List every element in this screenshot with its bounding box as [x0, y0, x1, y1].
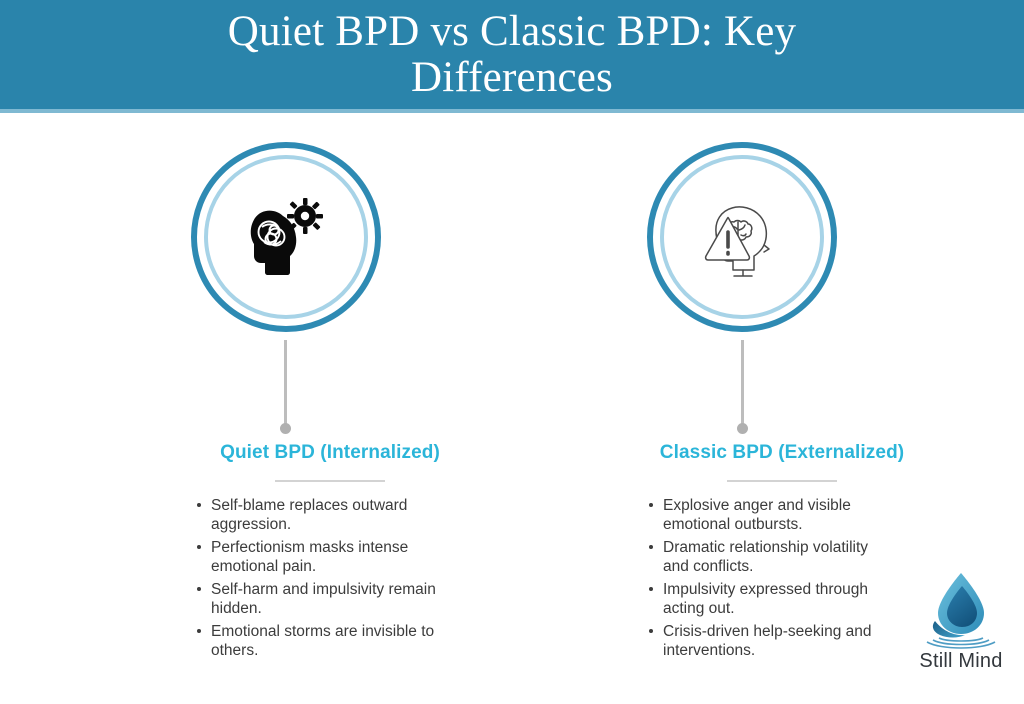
heading-divider: [275, 480, 385, 482]
connector-dot: [737, 423, 748, 434]
page-title: Quiet BPD vs Classic BPD: Key Difference…: [152, 9, 872, 101]
list-item: Explosive anger and visible emotional ou…: [649, 496, 878, 534]
list-item: Self-blame replaces outward aggression.: [197, 496, 441, 534]
text-block-quiet-bpd: Quiet BPD (Internalized) Self-blame repl…: [155, 442, 505, 664]
list-item: Perfectionism masks intense emotional pa…: [197, 538, 441, 576]
list-item: Dramatic relationship volatility and con…: [649, 538, 878, 576]
connector-line: [284, 340, 287, 428]
list-item: Emotional storms are invisible to others…: [197, 622, 441, 660]
column-quiet-bpd: Quiet BPD (Internalized) Self-blame repl…: [30, 113, 530, 704]
water-droplet-icon: [905, 568, 1017, 652]
connector-line: [741, 340, 744, 428]
list-item: Crisis-driven help-seeking and intervent…: [649, 622, 878, 660]
list-item: Impulsivity expressed through acting out…: [649, 580, 878, 618]
head-with-tangled-thoughts-and-gear-icon: [191, 142, 381, 332]
header-banner: Quiet BPD vs Classic BPD: Key Difference…: [0, 0, 1024, 109]
connector-dot: [280, 423, 291, 434]
brand-logo: Still Mind: [905, 568, 1017, 680]
emblem-classic-bpd: [647, 142, 837, 332]
brand-name: Still Mind: [905, 650, 1017, 673]
head-with-brain-and-warning-triangle-icon: [647, 142, 837, 332]
column-heading-classic-bpd: Classic BPD (Externalized): [607, 442, 957, 464]
heading-divider: [727, 480, 837, 482]
bullet-list-quiet-bpd: Self-blame replaces outward aggression. …: [155, 496, 505, 660]
column-heading-quiet-bpd: Quiet BPD (Internalized): [155, 442, 505, 464]
emblem-quiet-bpd: [191, 142, 381, 332]
list-item: Self-harm and impulsivity remain hidden.: [197, 580, 441, 618]
